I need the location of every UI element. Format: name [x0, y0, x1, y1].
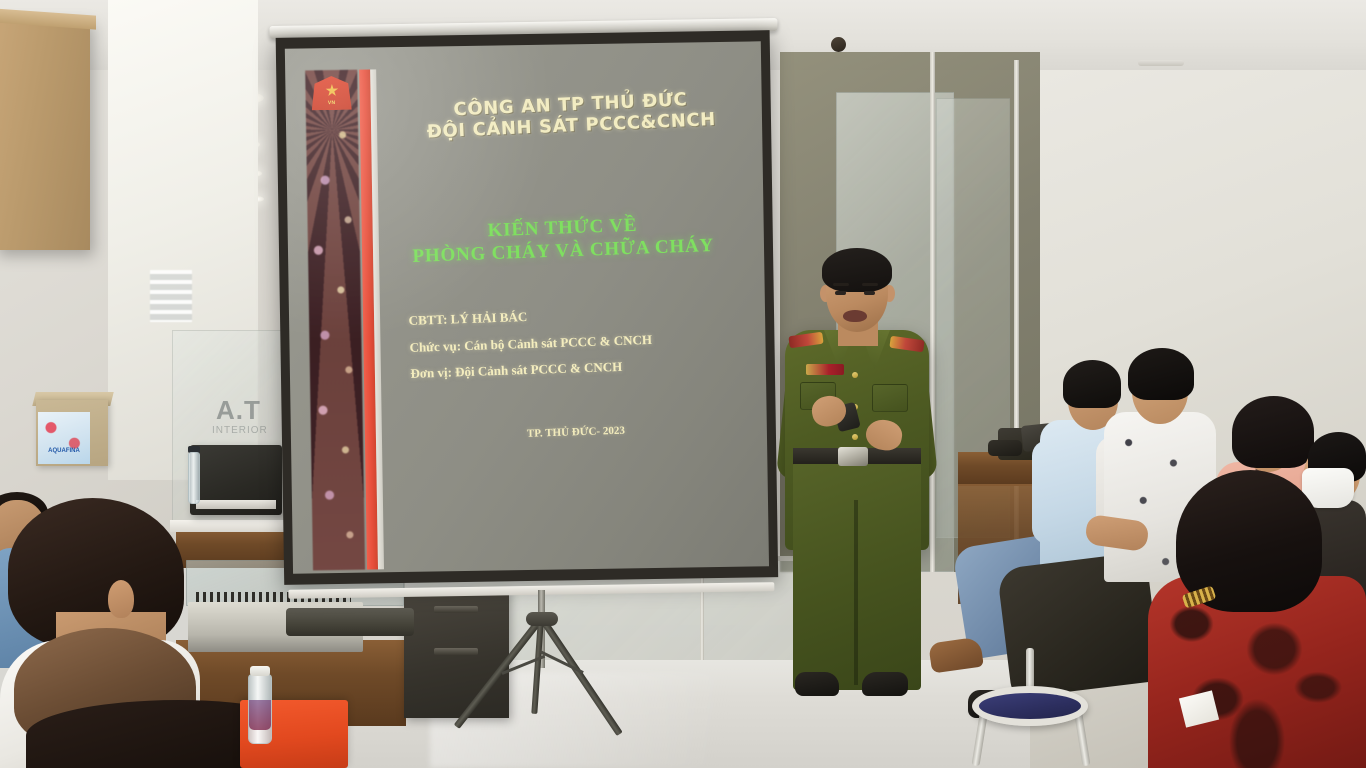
printer-paper-tray [196, 500, 276, 509]
slide-title: KIẾN THỨC VỀ PHÒNG CHÁY VÀ CHỮA CHÁY [357, 209, 768, 270]
photo-scene: A.T INTERIOR AQUAFINA VN [0, 0, 1366, 768]
hair [1232, 396, 1314, 468]
officer-eyebrow-right [862, 283, 878, 286]
projector-mount-knob [831, 37, 846, 52]
officer-mouth [843, 310, 867, 322]
at-wall-logo: A.T [216, 395, 261, 426]
officer-button [852, 372, 858, 378]
hair [1128, 348, 1194, 400]
binder-roller [286, 608, 414, 636]
officer-eye-right [864, 291, 875, 295]
bottle-cap [250, 666, 270, 676]
window-light-reflection [150, 270, 192, 322]
slide-decorative-border [305, 70, 365, 571]
officer-belt-buckle [838, 447, 868, 466]
officer-shoe-left [795, 672, 839, 696]
hair [1063, 360, 1121, 408]
officer-name-badge [806, 364, 844, 375]
emblem-label: VN [312, 100, 352, 107]
tripod-hub [526, 612, 558, 626]
screen-frame: VN CÔNG AN TP THỦ ĐỨC ĐỘI CẢNH SÁT PCCC&… [276, 30, 779, 585]
officer-eye-left [835, 291, 846, 295]
officer-eyebrow-left [833, 283, 849, 286]
slide-surface: VN CÔNG AN TP THỦ ĐỨC ĐỘI CẢNH SÁT PCCC&… [285, 41, 769, 573]
officer-shoe-right [862, 672, 908, 696]
water-brand-text: AQUAFINA [40, 448, 88, 454]
ceiling-vent [1138, 60, 1184, 66]
stapler [988, 440, 1022, 456]
slide-header: CÔNG AN TP THỦ ĐỨC ĐỘI CẢNH SÁT PCCC&CNC… [380, 86, 761, 145]
bottle-liquid [249, 700, 271, 730]
projector-screen: VN CÔNG AN TP THỦ ĐỨC ĐỘI CẢNH SÁT PCCC&… [264, 26, 793, 599]
blue-stool[interactable] [972, 686, 1088, 726]
officer-trouser-seam [854, 500, 858, 685]
water-bottle-on-counter [188, 452, 200, 504]
file-cabinet-handle[interactable] [434, 606, 478, 613]
officer-chest-pocket-right [872, 384, 908, 412]
glass-mullion [930, 52, 935, 572]
file-cabinet-handle[interactable] [434, 648, 478, 655]
ear [108, 580, 134, 618]
slide-footer: TP. THỦ ĐỨC- 2023 [411, 421, 741, 444]
at-wall-subtext: INTERIOR [212, 425, 268, 436]
officer-button [852, 434, 858, 440]
slide-body: CBTT: LÝ HẢI BÁC Chức vụ: Cán bộ Cảnh sá… [408, 296, 760, 387]
water-carton-label [38, 412, 90, 464]
wall-cabinet [0, 18, 90, 250]
